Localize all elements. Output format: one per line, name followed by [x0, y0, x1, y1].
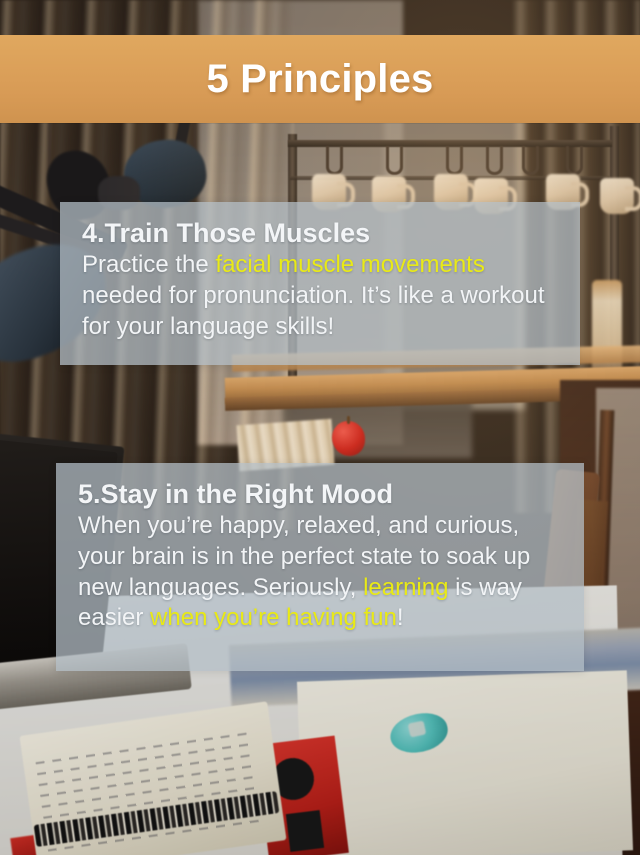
principle-card-5-title: 5.Stay in the Right Mood	[78, 479, 564, 509]
mug-hook	[566, 146, 583, 175]
red-book-logo	[286, 810, 324, 852]
principle-card-4-body: Practice the facial muscle movements nee…	[82, 250, 560, 342]
highlighted-phrase: when you’re having fun	[150, 604, 397, 631]
mug-hook	[446, 146, 463, 175]
video-frame: 5 Principles 4.Train Those Muscles Pract…	[0, 0, 640, 855]
principle-card-5-body: When you’re happy, relaxed, and curious,…	[78, 511, 564, 634]
mug-hook	[386, 146, 403, 175]
body-text-run: !	[397, 604, 404, 631]
highlighted-phrase: learning	[363, 574, 448, 601]
principle-card-4: 4.Train Those Muscles Practice the facia…	[60, 202, 580, 365]
mug-hook	[486, 146, 503, 175]
body-text-run: needed for pronunciation. It’s like a wo…	[82, 282, 545, 340]
background-photo	[0, 0, 640, 855]
desk-paper-sheet	[297, 670, 633, 855]
principle-card-5: 5.Stay in the Right Mood When you’re hap…	[56, 463, 584, 671]
header-banner: 5 Principles	[0, 35, 640, 123]
page-title: 5 Principles	[207, 57, 434, 102]
red-apple	[332, 421, 365, 456]
highlighted-phrase: facial muscle movements	[215, 251, 484, 278]
hanging-mug	[600, 178, 634, 214]
mug-hook	[326, 146, 343, 175]
principle-card-4-title: 4.Train Those Muscles	[82, 218, 560, 248]
mug-hook	[522, 146, 539, 175]
body-text-run: Practice the	[82, 251, 215, 278]
